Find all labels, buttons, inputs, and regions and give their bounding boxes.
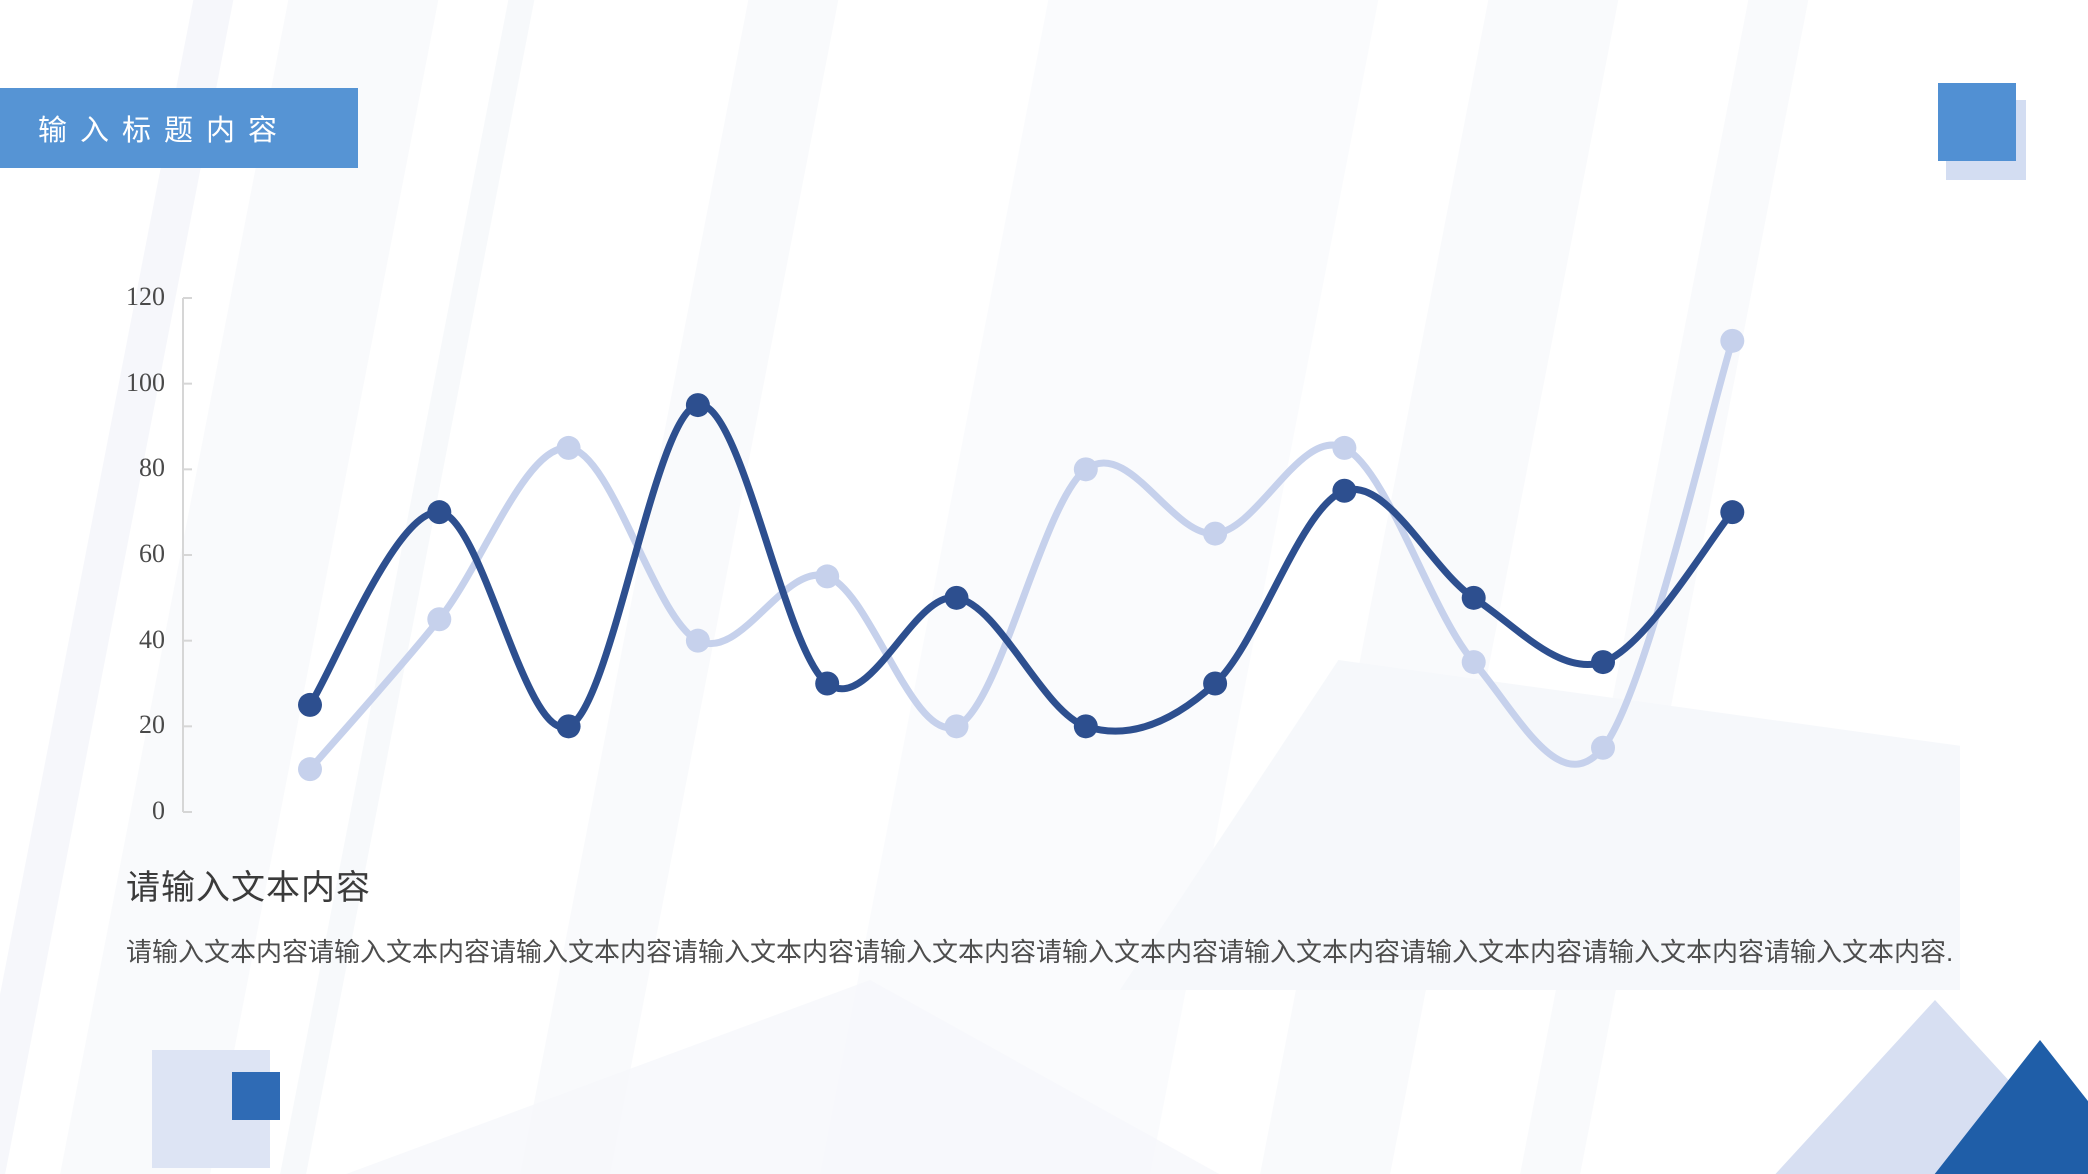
background-polygon (330, 980, 1230, 1174)
y-axis-tick-label: 0 (95, 796, 165, 826)
body-heading: 请输入文本内容 (126, 860, 371, 909)
data-point-marker[interactable] (298, 693, 322, 717)
y-axis-tick-label: 80 (95, 453, 165, 483)
y-axis-tick-label: 40 (95, 625, 165, 655)
slide-canvas: 输入标题内容 020406080100120 请输入文本内容 请输入文本内容请输… (0, 0, 2088, 1174)
data-point-marker[interactable] (1074, 714, 1098, 738)
y-axis-tick-label: 20 (95, 710, 165, 740)
data-point-marker[interactable] (1720, 500, 1744, 524)
data-point-marker[interactable] (557, 436, 581, 460)
series-line-series-dark (310, 405, 1732, 731)
data-point-marker[interactable] (427, 607, 451, 631)
body-paragraph: 请输入文本内容请输入文本内容请输入文本内容请输入文本内容请输入文本内容请输入文本… (126, 932, 1966, 972)
data-point-marker[interactable] (298, 757, 322, 781)
data-point-marker[interactable] (1462, 586, 1486, 610)
data-point-marker[interactable] (1203, 522, 1227, 546)
data-point-marker[interactable] (815, 564, 839, 588)
data-point-marker[interactable] (557, 714, 581, 738)
y-axis-tick-label: 100 (95, 368, 165, 398)
y-axis-tick-label: 120 (95, 282, 165, 312)
data-point-marker[interactable] (427, 500, 451, 524)
data-point-marker[interactable] (1462, 650, 1486, 674)
line-chart: 020406080100120 (0, 0, 2088, 900)
data-point-marker[interactable] (945, 586, 969, 610)
chart-svg (0, 0, 2088, 900)
data-point-marker[interactable] (686, 629, 710, 653)
data-point-marker[interactable] (945, 714, 969, 738)
data-point-marker[interactable] (815, 672, 839, 696)
data-point-marker[interactable] (1332, 479, 1356, 503)
series-line-series-light (310, 341, 1732, 769)
accent-square-bottom-left-dark (232, 1072, 280, 1120)
data-point-marker[interactable] (1591, 736, 1615, 760)
y-axis-tick-label: 60 (95, 539, 165, 569)
data-point-marker[interactable] (1074, 457, 1098, 481)
data-point-marker[interactable] (1720, 329, 1744, 353)
data-point-marker[interactable] (686, 393, 710, 417)
data-point-marker[interactable] (1203, 672, 1227, 696)
data-point-marker[interactable] (1332, 436, 1356, 460)
data-point-marker[interactable] (1591, 650, 1615, 674)
